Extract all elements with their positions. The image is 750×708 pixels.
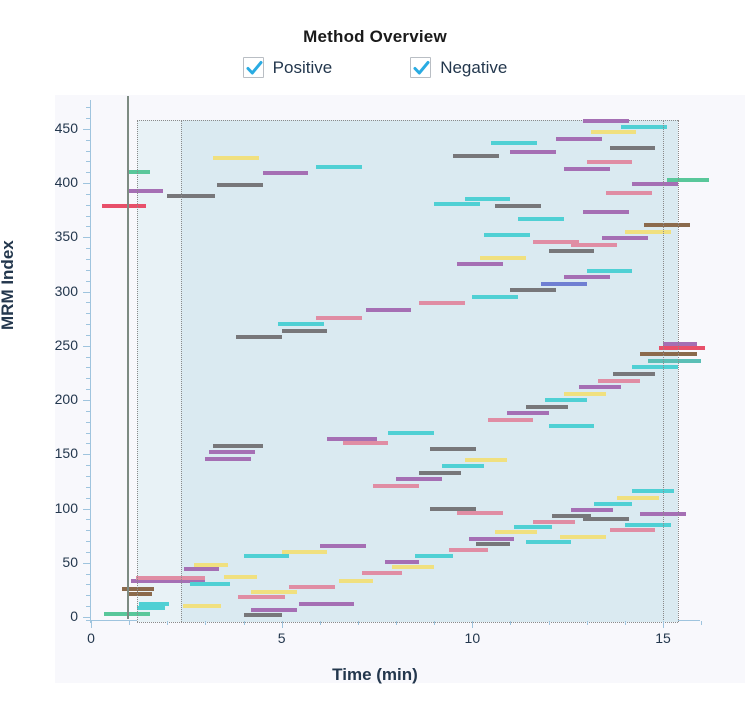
x-tick-minor (625, 621, 626, 625)
y-tick-minor (86, 498, 91, 499)
x-tick-minor (587, 621, 588, 625)
y-tick-minor (86, 259, 91, 260)
mrm-bar (526, 405, 568, 409)
mrm-bar (480, 256, 526, 260)
mrm-bar (238, 595, 286, 599)
mrm-bar (556, 137, 602, 141)
mrm-bar (299, 602, 354, 606)
y-tick-label: 100 (38, 500, 78, 516)
mrm-bar (251, 590, 297, 594)
y-tick-label: 350 (38, 228, 78, 244)
y-tick-minor (86, 151, 91, 152)
mrm-bar (339, 579, 373, 583)
y-tick-label: 400 (38, 174, 78, 190)
y-tick-minor (86, 606, 91, 607)
mrm-bar (632, 365, 678, 369)
mrm-bar (244, 613, 282, 617)
mrm-bar (213, 156, 259, 160)
mrm-bar (469, 537, 515, 541)
mrm-bar (644, 223, 690, 227)
mrm-bar (396, 477, 442, 481)
mrm-bar (659, 346, 705, 350)
mrm-bar (236, 335, 282, 339)
mrm-bar (167, 194, 215, 198)
mrm-bar (457, 511, 503, 515)
mrm-bar (594, 502, 632, 506)
mrm-bar (518, 217, 564, 221)
mrm-bar (507, 411, 549, 415)
mrm-bar (472, 295, 518, 299)
mrm-bar (510, 288, 556, 292)
mrm-bar (640, 352, 697, 356)
y-tick-minor (86, 216, 91, 217)
mrm-bar (564, 392, 606, 396)
mrm-bar (373, 484, 419, 488)
y-tick-label: 0 (38, 608, 78, 624)
y-tick-label: 50 (38, 554, 78, 570)
x-tick-minor (244, 621, 245, 625)
mrm-bar (184, 567, 218, 571)
mrm-bar (457, 262, 503, 266)
legend-label-negative: Negative (440, 58, 507, 78)
chart-title: Method Overview (0, 27, 750, 47)
x-tick-major (91, 621, 92, 628)
mrm-bar (289, 585, 335, 589)
y-tick-minor (86, 140, 91, 141)
y-tick-major (83, 563, 91, 564)
legend-item-negative[interactable]: Negative (410, 57, 507, 78)
y-tick-label: 250 (38, 337, 78, 353)
y-tick-minor (86, 205, 91, 206)
y-tick-minor (86, 487, 91, 488)
mrm-bar (495, 204, 541, 208)
mrm-bar (610, 146, 656, 150)
y-tick-minor (86, 422, 91, 423)
region-edge-bottom (137, 622, 678, 623)
mrm-bar (606, 191, 652, 195)
y-tick-minor (86, 389, 91, 390)
mrm-bar (362, 571, 402, 575)
y-tick-minor (86, 281, 91, 282)
window-left-1[interactable] (137, 120, 138, 622)
mrm-bar (632, 489, 674, 493)
mrm-bar (621, 125, 667, 129)
window-right-1[interactable] (663, 120, 664, 622)
window-left-2[interactable] (181, 120, 182, 622)
legend-label-positive: Positive (273, 58, 333, 78)
mrm-bar (648, 359, 701, 363)
mrm-bar (663, 342, 697, 346)
x-tick-major (472, 621, 473, 628)
y-tick-label: 300 (38, 283, 78, 299)
y-tick-minor (86, 367, 91, 368)
mrm-bar (449, 548, 487, 552)
mrm-bar (510, 150, 556, 154)
mrm-bar (320, 544, 366, 548)
mrm-bar (224, 575, 256, 579)
mrm-bar (183, 604, 221, 608)
mrm-bar (205, 457, 251, 461)
mrm-bar (571, 508, 613, 512)
mrm-bar (366, 308, 412, 312)
y-tick-minor (86, 411, 91, 412)
shaded-region (137, 120, 678, 622)
chart-root: Method Overview Positive Negative 051015… (0, 0, 750, 708)
plot-area (91, 118, 663, 617)
mrm-bar (282, 329, 328, 333)
y-tick-label: 200 (38, 391, 78, 407)
y-tick-major (83, 292, 91, 293)
current-time-marker[interactable] (127, 96, 129, 619)
mrm-bar (278, 322, 324, 326)
checkbox-checked-icon[interactable] (243, 57, 264, 78)
mrm-bar (282, 550, 328, 554)
x-tick-label: 10 (452, 630, 492, 646)
mrm-bar (476, 542, 510, 546)
mrm-bar (127, 592, 152, 596)
y-tick-minor (86, 433, 91, 434)
mrm-bar (213, 444, 263, 448)
mrm-bar (388, 431, 434, 435)
mrm-bar (316, 165, 362, 169)
mrm-bar (564, 275, 610, 279)
x-tick-label: 15 (643, 630, 683, 646)
y-tick-minor (86, 476, 91, 477)
y-tick-minor (86, 541, 91, 542)
mrm-bar (549, 249, 595, 253)
y-tick-minor (86, 595, 91, 596)
y-tick-minor (86, 443, 91, 444)
y-tick-major (83, 237, 91, 238)
mrm-bar (533, 240, 579, 244)
mrm-bar (583, 210, 629, 214)
y-tick-minor (86, 584, 91, 585)
mrm-bar (137, 606, 166, 610)
mrm-bar (209, 450, 255, 454)
x-tick-minor (396, 621, 397, 625)
window-right-2[interactable] (678, 120, 679, 622)
mrm-bar (632, 182, 678, 186)
y-tick-minor (86, 107, 91, 108)
x-tick-minor (358, 621, 359, 625)
x-tick-label: 0 (71, 630, 111, 646)
mrm-bar (491, 141, 537, 145)
mrm-bar (263, 171, 309, 175)
y-tick-minor (86, 161, 91, 162)
x-tick-major (282, 621, 283, 628)
x-tick-minor (129, 621, 130, 625)
y-tick-minor (86, 335, 91, 336)
mrm-bar (514, 525, 552, 529)
mrm-bar (129, 170, 150, 174)
y-tick-label: 450 (38, 120, 78, 136)
y-tick-minor (86, 465, 91, 466)
mrm-bar (617, 496, 659, 500)
mrm-bar (392, 565, 434, 569)
mrm-bar (598, 379, 640, 383)
y-tick-major (83, 400, 91, 401)
mrm-bar (434, 202, 480, 206)
mrm-bar (591, 130, 637, 134)
mrm-bar (343, 441, 389, 445)
y-tick-minor (86, 552, 91, 553)
mrm-bar (545, 398, 587, 402)
mrm-bar (194, 563, 228, 567)
mrm-bar (526, 540, 572, 544)
y-tick-major (83, 509, 91, 510)
mrm-bar (610, 528, 656, 532)
y-tick-minor (86, 324, 91, 325)
x-tick-label: 5 (262, 630, 302, 646)
y-tick-minor (86, 226, 91, 227)
mrm-bar (484, 233, 530, 237)
mrm-bar (316, 316, 362, 320)
mrm-bar (217, 183, 263, 187)
x-tick-major (663, 621, 664, 628)
mrm-bar (139, 602, 170, 606)
mrm-bar (583, 517, 629, 521)
x-axis-label: Time (min) (0, 665, 750, 685)
y-tick-minor (86, 313, 91, 314)
y-tick-minor (86, 378, 91, 379)
y-tick-major (83, 617, 91, 618)
mrm-bar (583, 119, 629, 123)
y-tick-major (83, 346, 91, 347)
mrm-bar (613, 372, 655, 376)
x-tick-minor (320, 621, 321, 625)
x-tick-minor (434, 621, 435, 625)
mrm-bar (549, 424, 595, 428)
mrm-bar (136, 576, 205, 580)
mrm-bar (495, 530, 537, 534)
y-axis-label: MRM Index (0, 240, 18, 330)
y-tick-major (83, 129, 91, 130)
mrm-bar (419, 471, 461, 475)
mrm-bar (415, 554, 453, 558)
mrm-bar (430, 447, 476, 451)
y-tick-minor (86, 302, 91, 303)
mrm-bar (533, 520, 575, 524)
mrm-bar (488, 418, 534, 422)
mrm-bar (465, 458, 507, 462)
mrm-bar (560, 535, 606, 539)
y-tick-label: 150 (38, 445, 78, 461)
x-tick-minor (701, 621, 702, 625)
mrm-bar (129, 189, 163, 193)
mrm-bar (190, 582, 230, 586)
x-tick-minor (167, 621, 168, 625)
mrm-bar (587, 269, 633, 273)
y-tick-minor (86, 270, 91, 271)
mrm-bar (102, 204, 146, 208)
y-tick-minor (86, 194, 91, 195)
mrm-bar (541, 282, 587, 286)
y-tick-minor (86, 519, 91, 520)
x-tick-minor (205, 621, 206, 625)
mrm-bar (453, 154, 499, 158)
mrm-bar (579, 385, 621, 389)
x-tick-minor (549, 621, 550, 625)
y-tick-minor (86, 172, 91, 173)
y-tick-minor (86, 118, 91, 119)
mrm-bar (587, 160, 633, 164)
y-tick-minor (86, 530, 91, 531)
chart-legend: Positive Negative (0, 57, 750, 78)
mrm-bar (442, 464, 484, 468)
legend-item-positive[interactable]: Positive (243, 57, 333, 78)
y-tick-minor (86, 248, 91, 249)
y-tick-minor (86, 574, 91, 575)
y-tick-major (83, 454, 91, 455)
mrm-bar (244, 554, 290, 558)
mrm-bar (385, 560, 419, 564)
mrm-bar (419, 301, 465, 305)
mrm-bar (564, 167, 610, 171)
y-tick-major (83, 183, 91, 184)
checkbox-checked-icon[interactable] (410, 57, 431, 78)
mrm-bar (602, 236, 648, 240)
y-tick-minor (86, 357, 91, 358)
x-tick-minor (510, 621, 511, 625)
